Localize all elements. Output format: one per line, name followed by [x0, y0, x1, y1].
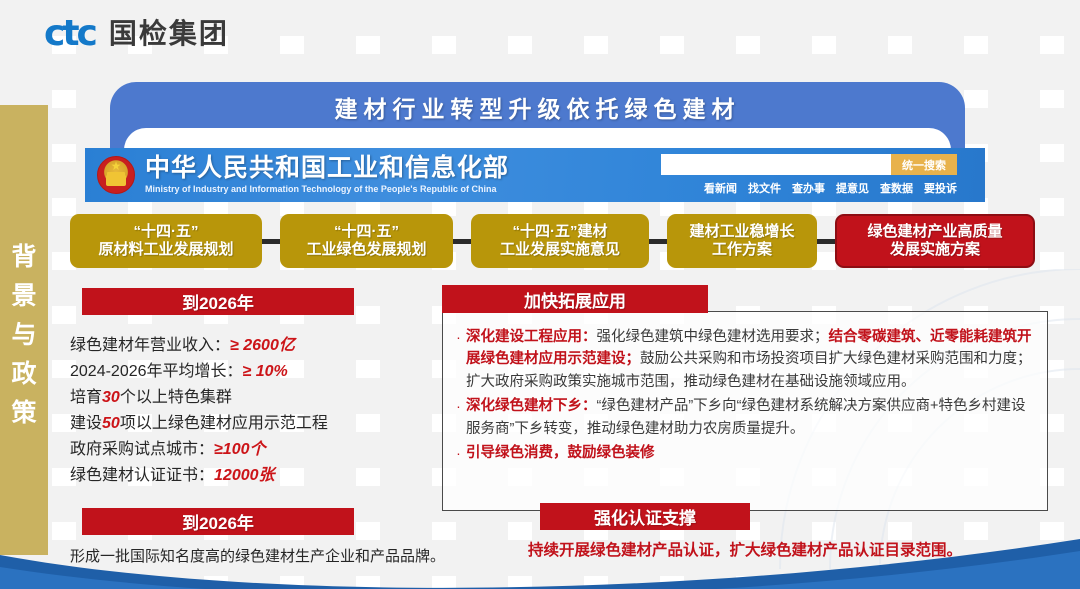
goal-suffix: 个以上特色集群	[120, 389, 232, 406]
bullet-item: · 深化建设工程应用：强化绿色建筑中绿色建材选用要求；结合零碳建筑、近零能耗建筑…	[451, 326, 1037, 393]
ministry-title-block: 中华人民共和国工业和信息化部 Ministry of Industry and …	[145, 155, 509, 194]
sidebar-char-1: 背	[11, 245, 36, 270]
goal-label: 绿色建材认证证书：	[70, 467, 214, 484]
bullet-item: · 引导绿色消费，鼓励绿色装修	[451, 442, 1037, 465]
ctc-logo-mark: ctc	[44, 16, 95, 52]
chip-line-1: “十四·五”建材	[513, 223, 608, 241]
section-sidebar-background-policy: 背 景 与 政 策	[0, 105, 48, 555]
chip-line-1: “十四·五”	[134, 223, 199, 241]
ministry-nav-links: 看新闻 找文件 查办事 提意见 查数据 要投诉	[704, 180, 957, 196]
nav-link-data[interactable]: 查数据	[880, 180, 913, 196]
policy-chip-high-quality-development[interactable]: 绿色建材产业高质量 发展实施方案	[835, 214, 1035, 268]
brand-header-badge: 到2026年	[82, 508, 354, 535]
goal-value: 50	[102, 415, 120, 432]
bullet-text: 引导绿色消费，鼓励绿色装修	[466, 442, 1037, 465]
unified-search-button[interactable]: 统一搜索	[891, 154, 957, 175]
goal-value: 12000张	[214, 467, 275, 484]
bullet-plain: 强化绿色建筑中绿色建材选用要求；	[597, 329, 829, 345]
goal-label: 2024-2026年平均增长：	[70, 363, 243, 380]
banner-title: 建材行业转型升级依托绿色建材	[110, 90, 965, 124]
bullet-emphasis: 深化绿色建材下乡：	[466, 398, 597, 414]
sidebar-char-2: 景	[11, 284, 36, 309]
bullet-text: 深化绿色建材下乡：“绿色建材产品”下乡向“绿色建材系统解决方案供应商+特色乡村建…	[466, 395, 1037, 440]
ministry-header: 中华人民共和国工业和信息化部 Ministry of Industry and …	[85, 148, 985, 202]
chip-connector	[817, 239, 835, 244]
certification-statement: 持续开展绿色建材产品认证，扩大绿色建材产品认证目录范围。	[442, 538, 1048, 560]
bullet-emphasis: 深化建设工程应用：	[466, 329, 597, 345]
application-header-badge: 加快拓展应用	[442, 285, 708, 313]
policy-chip-row: “十四·五” 原材料工业发展规划 “十四·五” 工业绿色发展规划 “十四·五”建…	[70, 212, 1042, 270]
bullet-dot-icon: ·	[451, 395, 466, 440]
brand-statement: 形成一批国际知名度高的绿色建材生产企业和产品品牌。	[70, 545, 490, 566]
chip-connector	[649, 239, 667, 244]
policy-chip-building-materials-opinion[interactable]: “十四·五”建材 工业发展实施意见	[471, 214, 649, 268]
nav-link-documents[interactable]: 找文件	[748, 180, 781, 196]
goal-row: 2024-2026年平均增长：≥ 10%	[70, 359, 440, 385]
bullet-item: · 深化绿色建材下乡：“绿色建材产品”下乡向“绿色建材系统解决方案供应商+特色乡…	[451, 395, 1037, 440]
chip-line-2: 工业发展实施意见	[500, 241, 620, 259]
chip-connector	[262, 239, 280, 244]
nav-link-news[interactable]: 看新闻	[704, 180, 737, 196]
goal-value: 30	[102, 389, 120, 406]
goal-label: 政府采购试点城市：	[70, 441, 214, 458]
chip-line-1: 绿色建材产业高质量	[867, 223, 1002, 241]
company-name: 国检集团	[109, 20, 229, 48]
goals-header-badge: 到2026年	[82, 288, 354, 315]
goal-row: 培育30个以上特色集群	[70, 385, 440, 411]
bullet-emphasis: 引导绿色消费，鼓励绿色装修	[466, 445, 655, 461]
chip-line-2: 工作方案	[712, 241, 772, 259]
chip-line-1: “十四·五”	[334, 223, 399, 241]
national-emblem-icon	[97, 156, 135, 194]
goals-list: 绿色建材年营业收入：≥ 2600亿 2024-2026年平均增长：≥ 10% 培…	[70, 333, 440, 488]
ministry-utility-area: 统一搜索 看新闻 找文件 查办事 提意见 查数据 要投诉	[661, 154, 957, 196]
goal-value: ≥ 2600亿	[230, 337, 295, 354]
certification-header-badge: 强化认证支撑	[540, 503, 750, 530]
chip-connector	[453, 239, 471, 244]
brand-logo: ctc 国检集团	[44, 16, 229, 52]
goal-label: 绿色建材年营业收入：	[70, 337, 230, 354]
application-content-box: · 深化建设工程应用：强化绿色建筑中绿色建材选用要求；结合零碳建筑、近零能耗建筑…	[442, 311, 1048, 511]
goal-suffix: 项以上绿色建材应用示范工程	[120, 415, 328, 432]
goal-row: 绿色建材认证证书：12000张	[70, 463, 440, 489]
ministry-name-en: Ministry of Industry and Information Tec…	[145, 184, 509, 195]
goal-row: 政府采购试点城市：≥100个	[70, 437, 440, 463]
search-row: 统一搜索	[661, 154, 957, 175]
goal-label: 培育	[70, 389, 102, 406]
sidebar-char-4: 政	[11, 362, 36, 387]
goal-label: 建设	[70, 415, 102, 432]
sidebar-char-3: 与	[11, 323, 36, 348]
policy-chip-steady-growth[interactable]: 建材工业稳增长 工作方案	[667, 214, 817, 268]
goal-row: 绿色建材年营业收入：≥ 2600亿	[70, 333, 440, 359]
policy-chip-raw-materials[interactable]: “十四·五” 原材料工业发展规划	[70, 214, 262, 268]
chip-line-2: 原材料工业发展规划	[98, 241, 233, 259]
sidebar-char-5: 策	[11, 401, 36, 426]
bullet-text: 深化建设工程应用：强化绿色建筑中绿色建材选用要求；结合零碳建筑、近零能耗建筑开展…	[466, 326, 1037, 393]
chip-line-2: 发展实施方案	[890, 241, 980, 259]
bullet-dot-icon: ·	[451, 326, 466, 393]
bullet-dot-icon: ·	[451, 442, 466, 465]
nav-link-suggestions[interactable]: 提意见	[836, 180, 869, 196]
goal-value: ≥ 10%	[243, 363, 288, 380]
goal-value: ≥100个	[214, 441, 265, 458]
search-input[interactable]	[661, 154, 891, 175]
goal-row: 建设50项以上绿色建材应用示范工程	[70, 411, 440, 437]
slide-canvas: ctc 国检集团 背 景 与 政 策 建材行业转型升级依托绿色建材 中华人民共和…	[0, 0, 1080, 589]
nav-link-services[interactable]: 查办事	[792, 180, 825, 196]
nav-link-complaints[interactable]: 要投诉	[924, 180, 957, 196]
chip-line-1: 建材工业稳增长	[689, 223, 794, 241]
ministry-name-cn: 中华人民共和国工业和信息化部	[145, 155, 509, 181]
chip-line-2: 工业绿色发展规划	[306, 241, 426, 259]
policy-chip-green-industry[interactable]: “十四·五” 工业绿色发展规划	[280, 214, 453, 268]
